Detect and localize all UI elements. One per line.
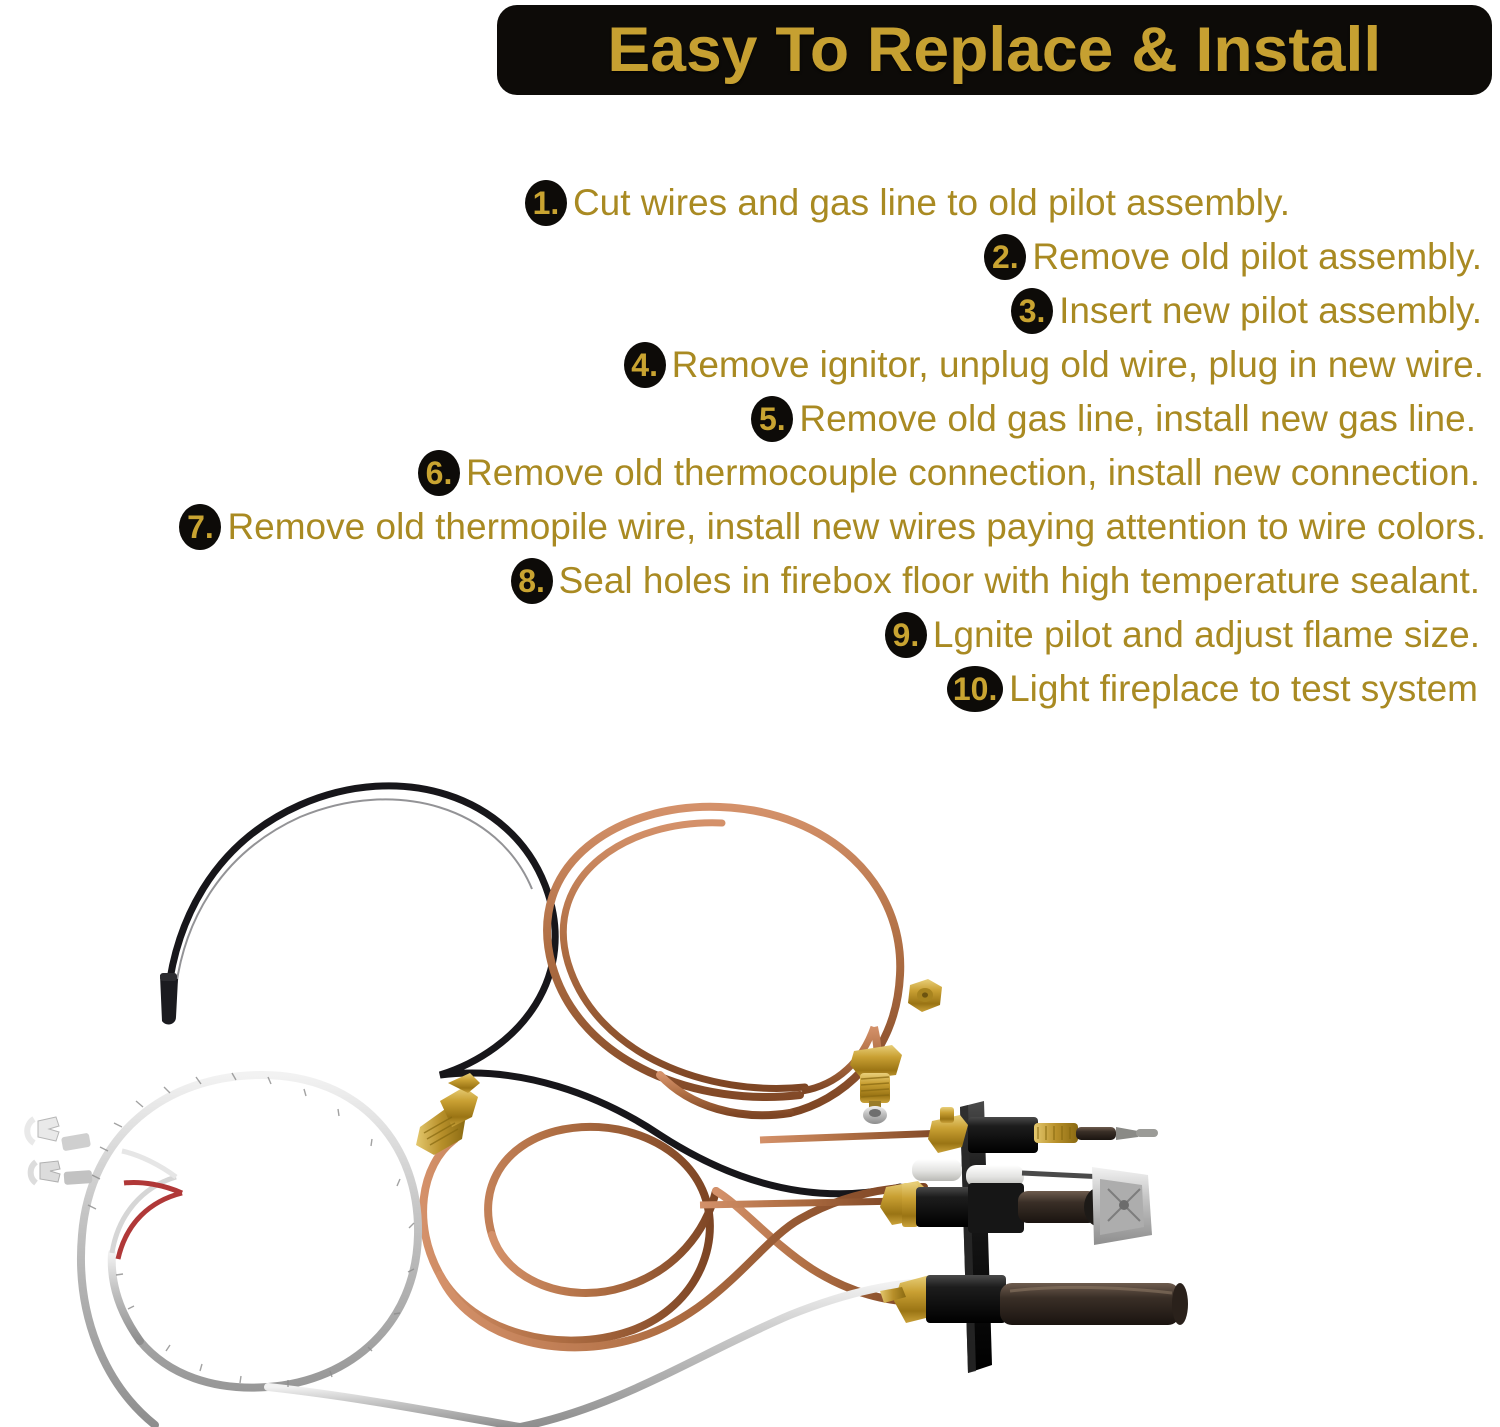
thermocouple-brass-nut: [850, 1045, 902, 1124]
step-text: Insert new pilot assembly.: [1059, 290, 1482, 332]
list-item: 8. Seal holes in firebox floor with high…: [511, 554, 1480, 608]
banner-title: Easy To Replace & Install: [608, 14, 1382, 86]
step-text: Lgnite pilot and adjust flame size.: [933, 614, 1480, 656]
banner: Easy To Replace & Install: [497, 5, 1492, 95]
step-text: Cut wires and gas line to old pilot asse…: [573, 182, 1290, 224]
step-text: Remove old thermocouple connection, inst…: [466, 452, 1480, 494]
ignitor-wire: [160, 786, 900, 1194]
step-number-badge: 7.: [179, 504, 221, 550]
step-text: Remove ignitor, unplug old wire, plug in…: [672, 344, 1484, 386]
list-item: 7. Remove old thermopile wire, install n…: [179, 500, 1486, 554]
thermocouple-lead: [547, 807, 902, 1124]
step-number-badge: 1.: [525, 180, 567, 226]
step-number-badge: 9.: [885, 612, 927, 658]
list-item: 1. Cut wires and gas line to old pilot a…: [525, 176, 1290, 230]
step-text: Light fireplace to test system: [1009, 668, 1478, 710]
list-item: 9. Lgnite pilot and adjust flame size.: [885, 608, 1480, 662]
list-item: 5. Remove old gas line, install new gas …: [751, 392, 1476, 446]
gas-line: [416, 1073, 924, 1347]
list-item: 2. Remove old pilot assembly.: [984, 230, 1482, 284]
gas-line-flare-fitting: [416, 1073, 480, 1155]
step-text: Seal holes in firebox floor with high te…: [559, 560, 1480, 602]
step-text: Remove old thermopile wire, install new …: [227, 506, 1486, 548]
step-number-badge: 8.: [511, 558, 553, 604]
thermopile-rod: [880, 1275, 1188, 1325]
pilot-orifice: [908, 979, 942, 1012]
pilot-thermocouple-port: [760, 1107, 1158, 1153]
list-item: 3. Insert new pilot assembly.: [1011, 284, 1482, 338]
spade-terminal-red: [31, 1161, 93, 1185]
step-number-badge: 6.: [418, 450, 460, 496]
list-item: 10. Light fireplace to test system: [947, 662, 1478, 716]
step-number-badge: 2.: [984, 234, 1026, 280]
step-number-badge: 5.: [751, 396, 793, 442]
thermopile-lead: [27, 1073, 936, 1427]
step-text: Remove old gas line, install new gas lin…: [799, 398, 1476, 440]
step-number-badge: 3.: [1011, 288, 1053, 334]
step-number-badge: 4.: [624, 342, 666, 388]
installation-steps-list: 1. Cut wires and gas line to old pilot a…: [0, 176, 1492, 716]
step-number-badge: 10.: [947, 666, 1003, 712]
spade-terminal-white: [27, 1117, 91, 1151]
list-item: 4. Remove ignitor, unplug old wire, plug…: [624, 338, 1484, 392]
step-text: Remove old pilot assembly.: [1032, 236, 1482, 278]
product-photo: [0, 735, 1500, 1427]
list-item: 6. Remove old thermocouple connection, i…: [418, 446, 1480, 500]
